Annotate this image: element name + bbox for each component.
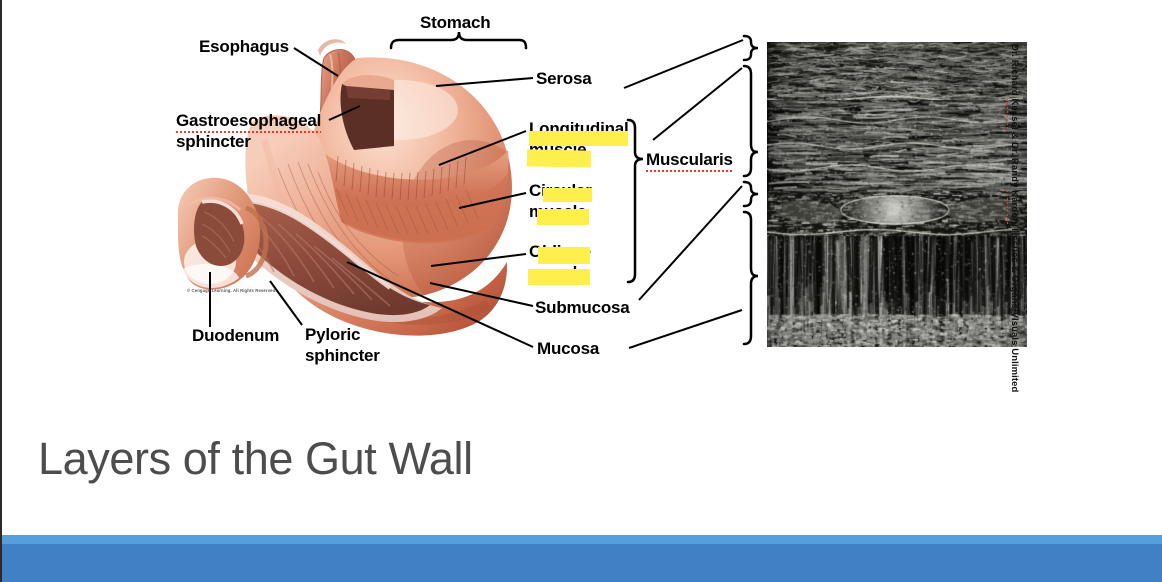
label-oblique-line1: Oblique [529,242,591,261]
micrograph-credit: Dr. Richard Kessel & Dr. Randy Kardon/Ti… [1006,44,1020,344]
label-serosa: Serosa [536,68,592,89]
page-title: Layers of the Gut Wall [38,431,473,487]
label-pyloric-line2: sphincter [305,346,380,365]
label-longitudinal-line2: muscle [529,140,586,159]
credit-name-kessel: Kessel [1009,99,1020,130]
label-longitudinal-muscle: Longitudinal muscle [529,118,629,160]
footer-accent-strip [2,535,1162,544]
label-longitudinal-line1: Longitudinal [529,119,629,138]
label-pyloric-sphincter: Pyloric sphincter [305,324,380,366]
label-gastroesophageal-sphincter: Gastroesophageal sphincter [176,110,321,152]
label-esophagus: Esophagus [199,36,289,57]
label-duodenum: Duodenum [192,325,279,346]
micrograph-braces [744,36,758,344]
label-circular-muscle: Circular muscle [529,180,592,222]
stomach-brace [391,32,526,48]
credit-suffix: /Tissues & Organs/Visuals Unlimited [1009,224,1020,392]
label-pyloric-line1: Pyloric [305,325,360,344]
muscularis-brace [628,120,643,282]
figure-copyright: © Cengage Learning. All Rights Reserved. [187,288,277,293]
stomach-figure: Stomach Esophagus Gastroesophageal sphin… [2,0,1162,400]
label-gastroesophageal-word: Gastroesophageal [176,111,321,130]
label-stomach: Stomach [420,12,490,33]
label-muscularis: Muscularis [646,149,733,170]
label-mucosa: Mucosa [537,338,599,359]
credit-mid: & Dr. Randy [1009,130,1020,190]
credit-prefix: Dr. Richard [1009,44,1020,99]
label-circular-line2: muscle [529,202,586,221]
slide: Stomach Esophagus Gastroesophageal sphin… [0,0,1162,582]
footer-band [2,544,1162,582]
label-submucosa: Submucosa [535,297,630,318]
credit-name-kardon: Kardon [1009,190,1020,224]
label-oblique-muscle: Oblique muscle [529,241,591,283]
label-muscularis-word: Muscularis [646,150,733,169]
label-circular-line1: Circular [529,181,592,200]
label-sphincter-word: sphincter [176,132,251,151]
label-oblique-line2: muscle [529,263,586,282]
brace-connectors [624,40,743,348]
electron-micrograph [767,42,1027,347]
